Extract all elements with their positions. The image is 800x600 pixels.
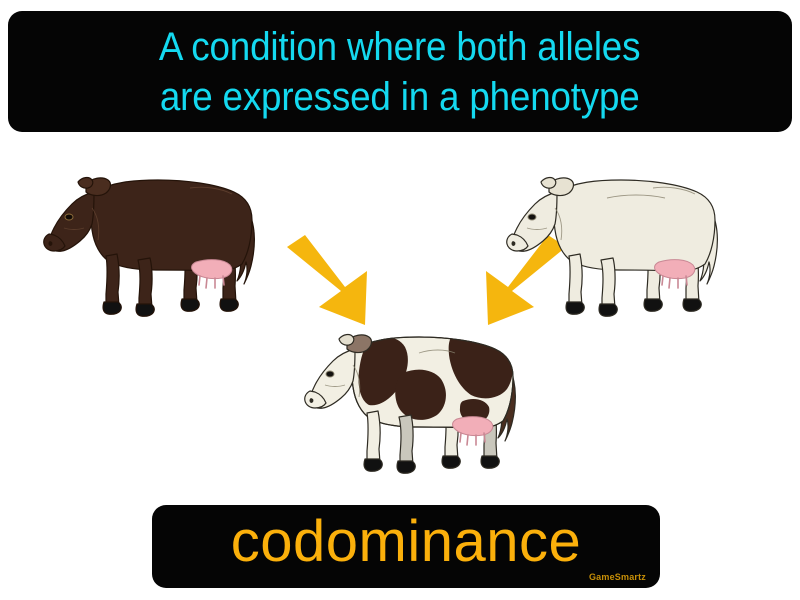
- offspring-cow-spotted: [295, 315, 560, 480]
- definition-banner: A condition where both alleles are expre…: [8, 11, 792, 132]
- illustration-area: [0, 140, 800, 500]
- term-label: codominance: [152, 511, 660, 573]
- term-banner: codominance GameSmartz: [152, 505, 660, 588]
- watermark-label: GameSmartz: [589, 572, 646, 582]
- parent-cow-white: [497, 158, 762, 323]
- definition-line-2: are expressed in a phenotype: [160, 72, 640, 122]
- parent-cow-brown: [34, 158, 299, 323]
- definition-line-1: A condition where both alleles: [159, 22, 640, 72]
